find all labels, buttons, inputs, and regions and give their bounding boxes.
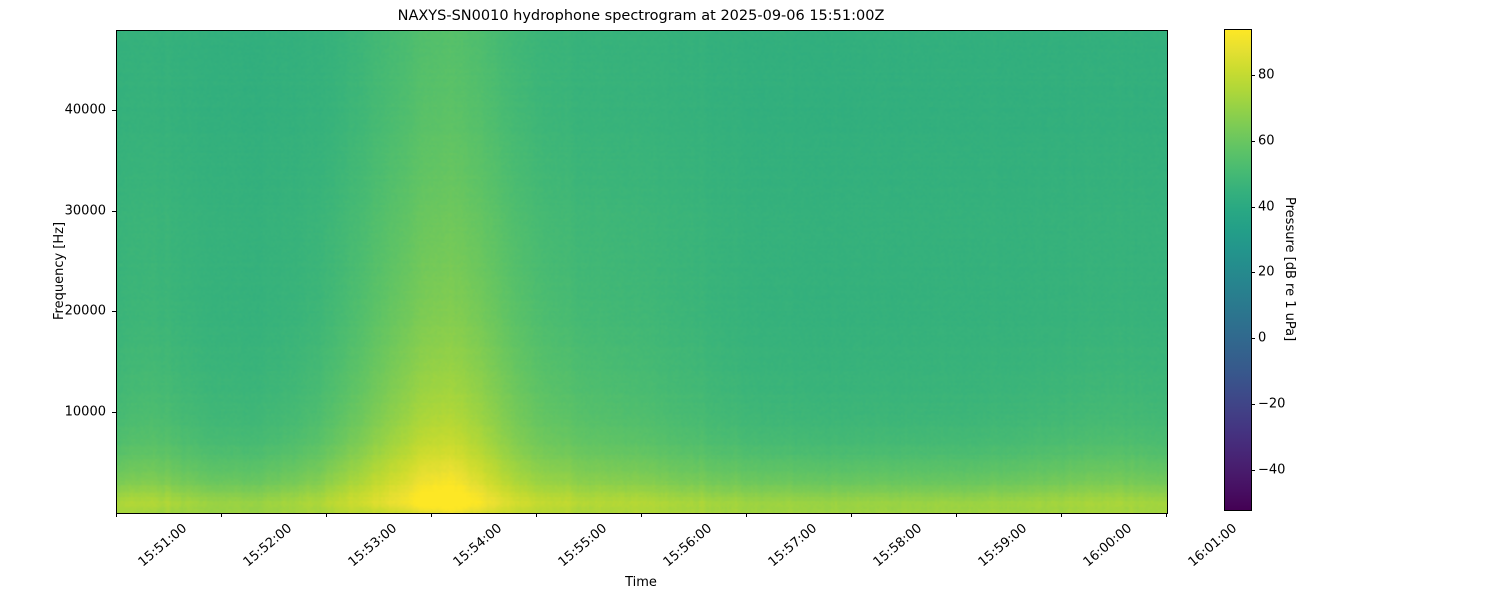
colorbar-tick-label: 80: [1258, 68, 1275, 83]
y-tick-label: 30000: [65, 203, 106, 218]
spectrogram-plot-area[interactable]: [116, 30, 1168, 514]
x-axis-label: Time: [116, 575, 1166, 590]
x-tick-mark: [1061, 513, 1062, 517]
x-tick-label: 15:59:00: [976, 521, 1030, 570]
y-tick-mark: [112, 412, 116, 413]
spectrogram-figure: NAXYS-SN0010 hydrophone spectrogram at 2…: [0, 0, 1500, 600]
x-tick-mark: [431, 513, 432, 517]
y-tick-label: 20000: [65, 304, 106, 319]
x-tick-label: 15:56:00: [661, 521, 715, 570]
x-tick-label: 15:52:00: [241, 521, 295, 570]
colorbar[interactable]: [1224, 29, 1252, 511]
x-tick-mark: [536, 513, 537, 517]
colorbar-tick-mark: [1251, 404, 1255, 405]
colorbar-tick-label: −20: [1258, 396, 1285, 411]
x-tick-mark: [326, 513, 327, 517]
x-tick-label: 15:53:00: [346, 521, 400, 570]
colorbar-tick-mark: [1251, 75, 1255, 76]
x-tick-label: 16:00:00: [1081, 521, 1135, 570]
y-tick-mark: [112, 211, 116, 212]
colorbar-tick-label: 0: [1258, 331, 1266, 346]
colorbar-tick-mark: [1251, 207, 1255, 208]
colorbar-tick-mark: [1251, 470, 1255, 471]
x-tick-label: 16:01:00: [1186, 521, 1240, 570]
x-tick-mark: [746, 513, 747, 517]
x-tick-label: 15:57:00: [766, 521, 820, 570]
colorbar-gradient: [1225, 30, 1251, 510]
colorbar-label: Pressure [dB re 1 uPa]: [1282, 197, 1297, 341]
colorbar-tick-label: 60: [1258, 133, 1275, 148]
colorbar-tick-label: 40: [1258, 199, 1275, 214]
x-tick-label: 15:51:00: [136, 521, 190, 570]
y-tick-mark: [112, 311, 116, 312]
x-tick-label: 15:54:00: [451, 521, 505, 570]
spectrogram-image: [117, 31, 1167, 513]
x-tick-mark: [956, 513, 957, 517]
colorbar-tick-mark: [1251, 338, 1255, 339]
y-tick-label: 10000: [65, 404, 106, 419]
x-tick-mark: [851, 513, 852, 517]
x-tick-mark: [116, 513, 117, 517]
y-tick-label: 40000: [65, 103, 106, 118]
colorbar-tick-mark: [1251, 141, 1255, 142]
x-tick-mark: [641, 513, 642, 517]
colorbar-tick-mark: [1251, 272, 1255, 273]
y-tick-mark: [112, 110, 116, 111]
x-tick-mark: [221, 513, 222, 517]
colorbar-tick-label: 20: [1258, 265, 1275, 280]
x-tick-mark: [1166, 513, 1167, 517]
x-tick-label: 15:55:00: [556, 521, 610, 570]
colorbar-tick-label: −40: [1258, 462, 1285, 477]
page-title: NAXYS-SN0010 hydrophone spectrogram at 2…: [116, 8, 1166, 24]
x-tick-label: 15:58:00: [871, 521, 925, 570]
